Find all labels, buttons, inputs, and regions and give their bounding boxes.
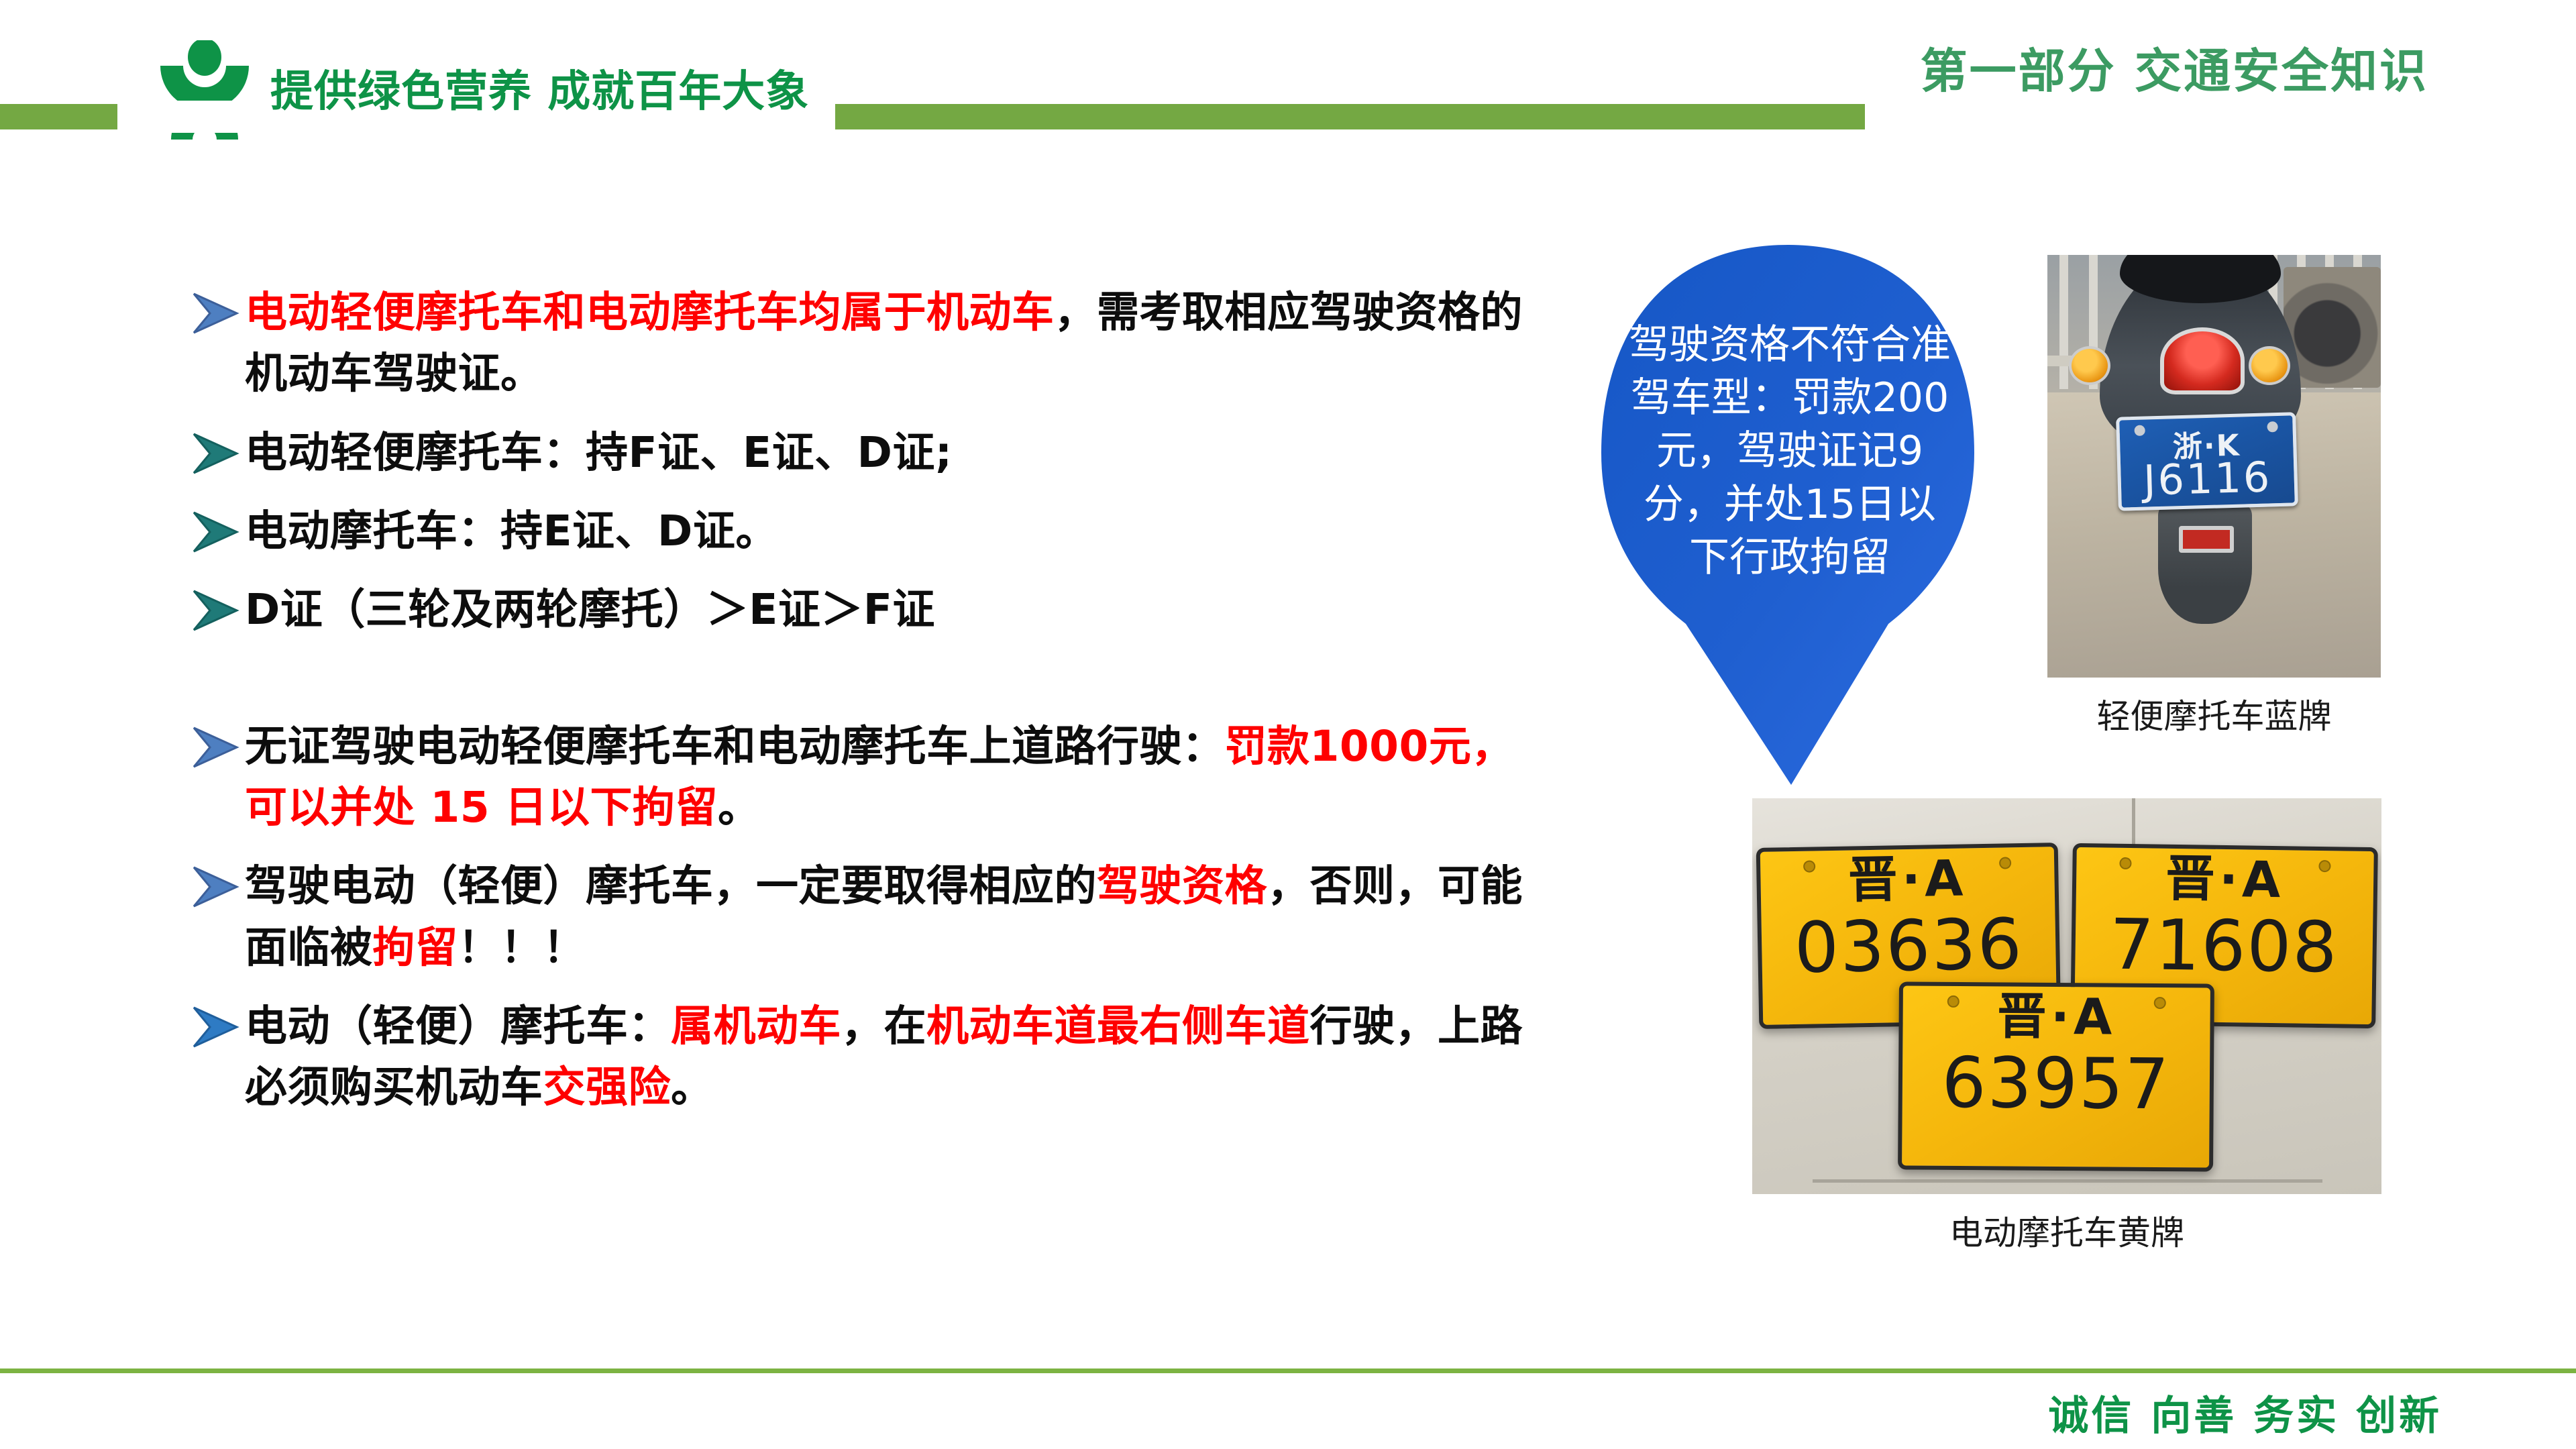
list-item: 无证驾驶电动轻便摩托车和电动摩托车上道路行驶：罚款1000元，可以并处 15 日… bbox=[171, 716, 1546, 839]
plate-number: 63957 bbox=[1902, 1047, 2210, 1119]
footer-rule bbox=[0, 1368, 2576, 1373]
arrow-bullet-icon bbox=[190, 431, 242, 476]
arrow-bullet-icon bbox=[190, 865, 242, 909]
plate-number: 03636 bbox=[1761, 908, 2056, 983]
list-item: D证（三轮及两轮摩托）＞E证＞F证 bbox=[171, 579, 1546, 640]
list-item: 电动摩托车：持E证、D证。 bbox=[171, 500, 1546, 561]
yellow-license-plate: 晋·A 63957 bbox=[1898, 981, 2214, 1171]
arrow-bullet-icon bbox=[190, 1005, 242, 1049]
arrow-bullet-icon bbox=[190, 510, 242, 554]
plate-region: 晋·A bbox=[1902, 991, 2210, 1042]
blue-license-plate: 浙·K J6116 bbox=[2116, 412, 2298, 511]
slide-header: 提供绿色营养 成就百年大象 第一部分 交通安全知识 bbox=[0, 0, 2576, 144]
yellow-plates-photo: 晋·A 03636 晋·A 71608 晋·A 63957 电动摩托车黄牌 bbox=[1752, 798, 2381, 1254]
company-slogan: 提供绿色营养 成就百年大象 bbox=[265, 57, 818, 119]
plates-photo-image: 晋·A 03636 晋·A 71608 晋·A 63957 bbox=[1752, 798, 2381, 1194]
moped-photo-image: 浙·K J6116 bbox=[2047, 255, 2381, 678]
arrow-bullet-icon bbox=[190, 291, 242, 335]
arrow-bullet-icon bbox=[190, 588, 242, 633]
photo-caption: 电动摩托车黄牌 bbox=[1752, 1206, 2381, 1254]
bullet-5-seg-1: 无证驾驶电动轻便摩托车和电动摩托车上道路行驶： bbox=[245, 722, 1225, 771]
bullet-5-seg-3: 。 bbox=[718, 783, 761, 832]
list-item: 电动轻便摩托车：持F证、E证、D证; bbox=[171, 422, 1546, 483]
bullet-2-text: 电动轻便摩托车：持F证、E证、D证; bbox=[245, 428, 953, 477]
footer-slogan: 诚信 向善 务实 创新 bbox=[2048, 1383, 2442, 1442]
bullet-6-seg-4: 拘留 bbox=[373, 923, 458, 972]
teardrop-callout: 驾驶资格不符合准驾车型：罚款200元，驾驶证记9分，并处15日以下行政拘留 bbox=[1600, 238, 1976, 795]
plate-number: 71608 bbox=[2075, 909, 2373, 983]
plate-region: 晋·A bbox=[1760, 852, 2055, 907]
list-gap bbox=[171, 658, 1546, 716]
bullet-7-seg-7: 。 bbox=[671, 1063, 714, 1112]
header-bar-mask-right bbox=[1865, 101, 2576, 133]
bullet-1-seg-1: 电动轻便摩托车和电动摩托车均属于机动车 bbox=[245, 288, 1055, 337]
bullet-7-seg-1: 电动（轻便）摩托车： bbox=[245, 1002, 671, 1051]
bullet-6-seg-5: ！！！ bbox=[458, 923, 586, 972]
bullet-7-seg-6: 交强险 bbox=[543, 1063, 672, 1112]
photo-caption: 轻便摩托车蓝牌 bbox=[2047, 690, 2381, 738]
bullet-list: 电动轻便摩托车和电动摩托车均属于机动车，需考取相应驾驶资格的机动车驾驶证。 电动… bbox=[171, 282, 1546, 1136]
page-title: 第一部分 交通安全知识 bbox=[1914, 34, 2435, 101]
list-item: 驾驶电动（轻便）摩托车，一定要取得相应的驾驶资格，否则，可能面临被拘留！！！ bbox=[171, 855, 1546, 978]
bullet-7-seg-2: 属机动车 bbox=[671, 1002, 841, 1051]
list-item: 电动轻便摩托车和电动摩托车均属于机动车，需考取相应驾驶资格的机动车驾驶证。 bbox=[171, 282, 1546, 405]
arrow-bullet-icon bbox=[190, 725, 242, 769]
bullet-4-text: D证（三轮及两轮摩托）＞E证＞F证 bbox=[245, 585, 935, 634]
list-item: 电动（轻便）摩托车：属机动车，在机动车道最右侧车道行驶，上路必须购买机动车交强险… bbox=[171, 996, 1546, 1118]
plate-region: 晋·A bbox=[2076, 853, 2374, 906]
bullet-6-seg-2: 驾驶资格 bbox=[1097, 861, 1267, 910]
moped-blue-plate-photo: 浙·K J6116 轻便摩托车蓝牌 bbox=[2047, 255, 2381, 738]
bullet-3-text: 电动摩托车：持E证、D证。 bbox=[245, 506, 778, 555]
callout-text: 驾驶资格不符合准驾车型：罚款200元，驾驶证记9分，并处15日以下行政拘留 bbox=[1628, 319, 1951, 584]
bullet-7-seg-4: 机动车道最右侧车道 bbox=[926, 1002, 1310, 1051]
bullet-6-seg-1: 驾驶电动（轻便）摩托车，一定要取得相应的 bbox=[245, 861, 1097, 910]
bullet-7-seg-3: ，在 bbox=[841, 1002, 926, 1051]
plate-number: J6116 bbox=[2121, 451, 2295, 505]
